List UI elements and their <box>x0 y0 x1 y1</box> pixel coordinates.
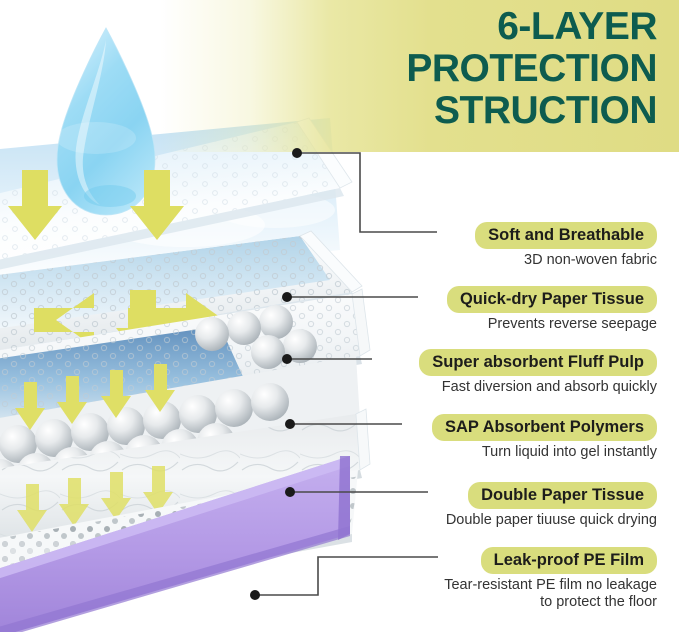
layer-title-1: Soft and Breathable <box>475 222 657 249</box>
layer-subtitle-4: Turn liquid into gel instantly <box>227 444 657 461</box>
page-title: 6-LAYER PROTECTION STRUCTION <box>237 6 657 132</box>
callout-layer-2: Quick-dry Paper Tissue Prevents reverse … <box>237 286 657 333</box>
callout-layer-3: Super absorbent Fluff Pulp Fast diversio… <box>227 349 657 396</box>
callout-layer-6: Leak-proof PE Film Tear-resistant PE fil… <box>227 547 657 611</box>
callout-layer-1: Soft and Breathable 3D non-woven fabric <box>237 222 657 269</box>
layer-subtitle-5: Double paper tiuuse quick drying <box>227 512 657 529</box>
layer-subtitle-3: Fast diversion and absorb quickly <box>227 379 657 396</box>
callout-layer-5: Double Paper Tissue Double paper tiuuse … <box>227 482 657 529</box>
layer-title-3: Super absorbent Fluff Pulp <box>419 349 657 376</box>
layer-subtitle-1: 3D non-woven fabric <box>237 252 657 269</box>
infographic-root: 6-LAYER PROTECTION STRUCTION Soft and Br… <box>0 0 679 632</box>
callout-layer-4: SAP Absorbent Polymers Turn liquid into … <box>227 414 657 461</box>
layer-title-4: SAP Absorbent Polymers <box>432 414 657 441</box>
layer-title-5: Double Paper Tissue <box>468 482 657 509</box>
layer-title-2: Quick-dry Paper Tissue <box>447 286 657 313</box>
layer-subtitle-2: Prevents reverse seepage <box>237 316 657 333</box>
layer-title-6: Leak-proof PE Film <box>481 547 657 574</box>
layer-subtitle-6: Tear-resistant PE film no leakage to pro… <box>227 577 657 611</box>
